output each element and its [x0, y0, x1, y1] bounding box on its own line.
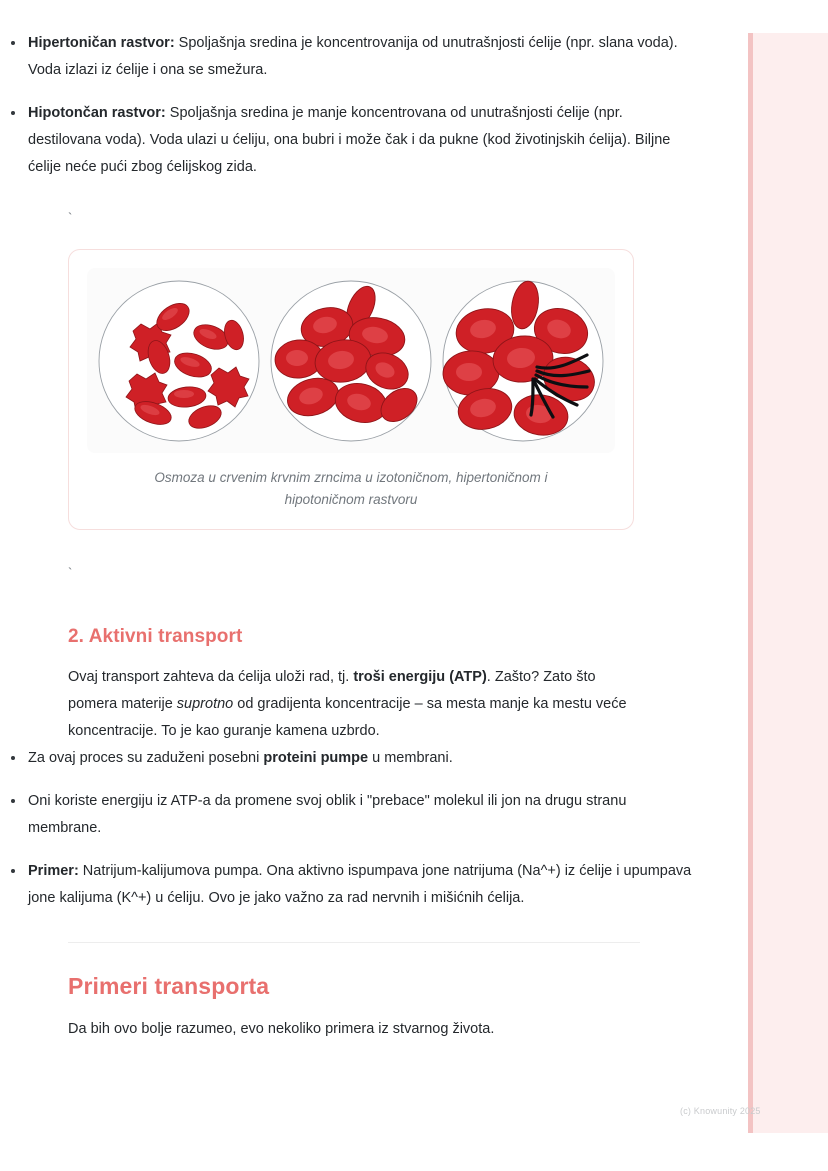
section-heading-active-transport: 2. Aktivni transport	[68, 582, 700, 648]
bullet-dot-icon	[11, 756, 15, 760]
page-edge-stripe-band	[753, 33, 828, 1133]
list-item-text: Primer: Natrijum-kalijumova pumpa. Ona a…	[28, 863, 691, 906]
list-item-text: Hipertoničan rastvor: Spoljašnja sredina…	[28, 35, 678, 78]
page-edge-stripe-line	[748, 33, 753, 1133]
active-transport-list: Za ovaj proces su zaduženi posebni prote…	[0, 745, 700, 912]
list-item: Primer: Natrijum-kalijumova pumpa. Ona a…	[0, 858, 700, 912]
hypertonic-crenated-cells-illustration	[93, 275, 265, 447]
list-item: Hipertoničan rastvor: Spoljašnja sredina…	[0, 30, 700, 84]
list-item: Oni koriste energiju iz ATP-a da promene…	[0, 788, 700, 842]
figure-image-panel	[87, 268, 615, 453]
list-item-text: Hipotončan rastvor: Spoljašnja sredina j…	[28, 105, 670, 175]
list-item-lead: Hipertoničan rastvor:	[28, 35, 175, 51]
document-content: Hipertoničan rastvor: Spoljašnja sredina…	[0, 0, 700, 1043]
list-item-post: Natrijum-kalijumova pumpa. Ona aktivno i…	[28, 863, 691, 906]
hypotonic-swollen-cells-illustration	[437, 275, 609, 447]
bullet-dot-icon	[11, 869, 15, 873]
list-item-pre: Oni koriste energiju iz ATP-a da promene…	[28, 793, 626, 836]
figure-card: Osmoza u crvenim krvnim zrncima u izoton…	[68, 249, 634, 530]
examples-paragraph: Da bih ovo bolje razumeo, evo nekoliko p…	[68, 1016, 640, 1043]
paragraph-italic-suprotno: suprotno	[177, 696, 233, 712]
stray-backtick-artifact: `	[68, 564, 700, 582]
figure-caption: Osmoza u crvenim krvnim zrncima u izoton…	[116, 467, 586, 511]
bullet-dot-icon	[11, 799, 15, 803]
copyright-watermark: (c) Knowunity 2025	[680, 1106, 761, 1116]
list-item: Za ovaj proces su zaduženi posebni prote…	[0, 745, 700, 772]
list-item-bold: Primer:	[28, 863, 79, 879]
paragraph-part-1: Ovaj transport zahteva da ćelija uloži r…	[68, 669, 353, 685]
stray-backtick-artifact: `	[68, 209, 700, 227]
list-item-bold: proteini pumpe	[263, 750, 368, 766]
list-item-text: Za ovaj proces su zaduženi posebni prote…	[28, 750, 453, 766]
solution-types-list: Hipertoničan rastvor: Spoljašnja sredina…	[0, 30, 700, 181]
active-transport-paragraph: Ovaj transport zahteva da ćelija uloži r…	[68, 664, 640, 745]
isotonic-normal-cells-illustration	[265, 275, 437, 447]
list-item-lead: Hipotončan rastvor:	[28, 105, 166, 121]
bullet-dot-icon	[11, 111, 15, 115]
list-item: Hipotončan rastvor: Spoljašnja sredina j…	[0, 100, 700, 181]
list-item-pre: Za ovaj proces su zaduženi posebni	[28, 750, 263, 766]
bullet-dot-icon	[11, 41, 15, 45]
section-heading-examples: Primeri transporta	[68, 943, 700, 1000]
list-item-post: u membrani.	[368, 750, 453, 766]
paragraph-bold-atp: troši energiju (ATP)	[353, 669, 486, 685]
list-item-text: Oni koriste energiju iz ATP-a da promene…	[28, 793, 626, 836]
